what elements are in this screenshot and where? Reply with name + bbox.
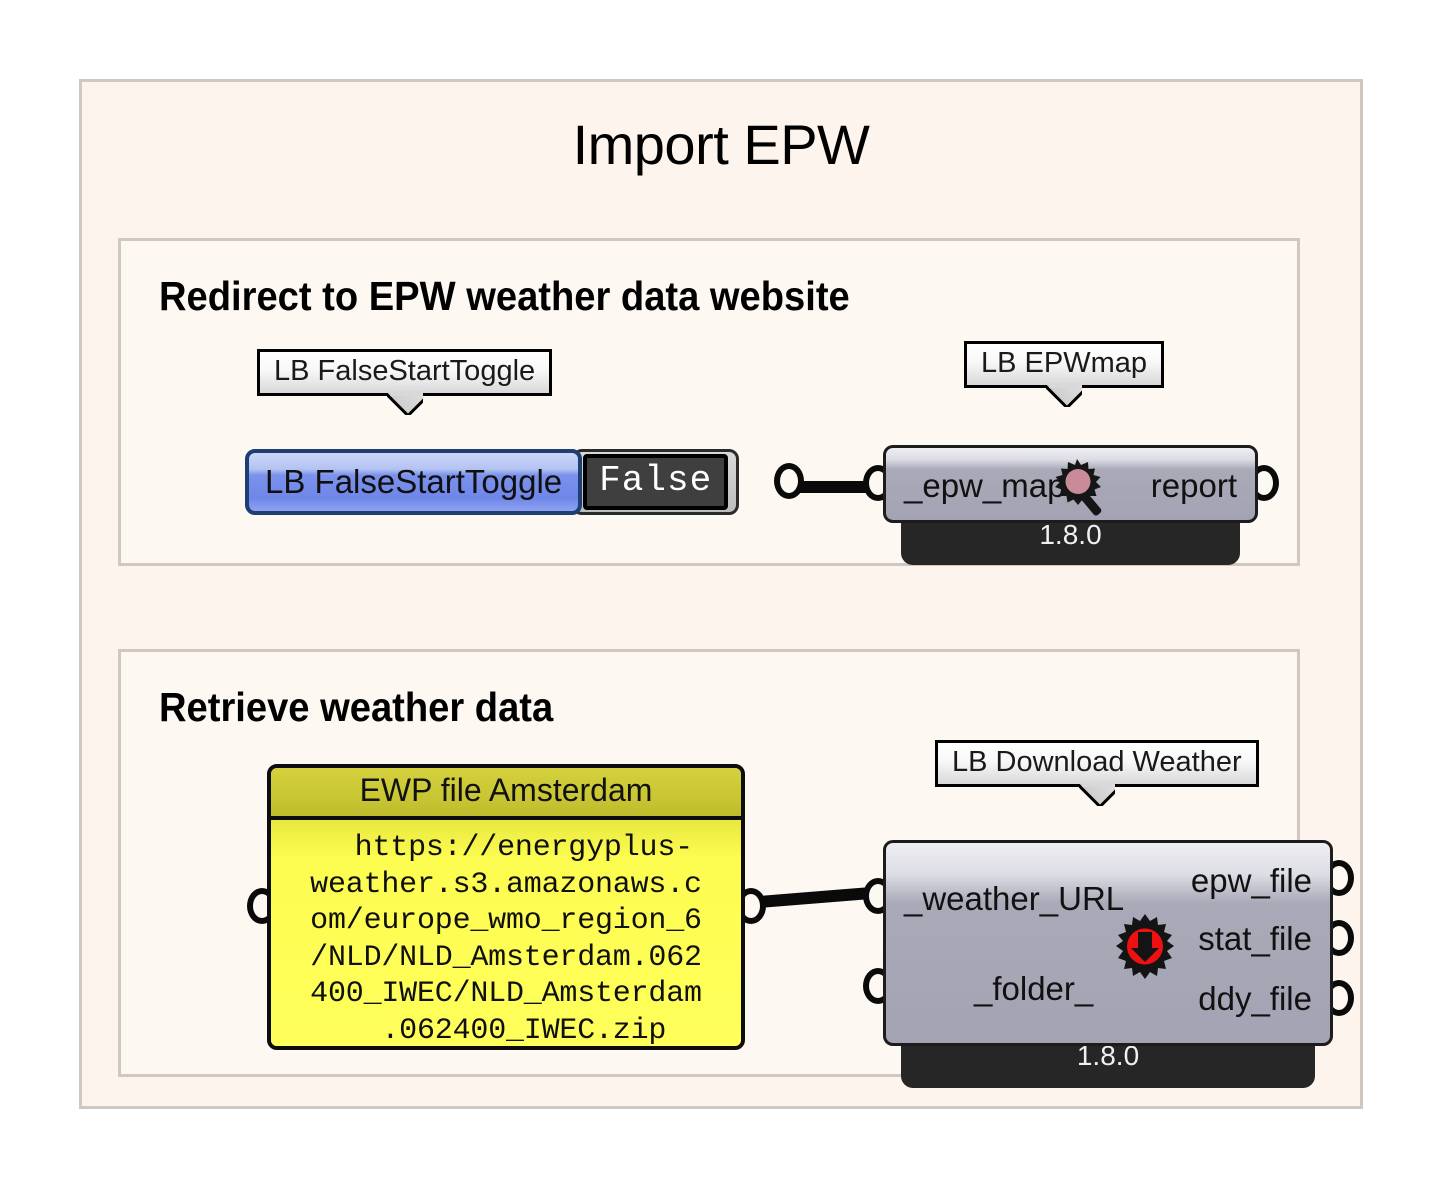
tooltip-false-start-toggle-label: LB FalseStartToggle [274,355,535,387]
boolean-toggle-value[interactable]: False [583,454,728,510]
tooltip-pointer-mask [1049,383,1079,388]
epwmap-input-epw-map[interactable]: _epw_map [904,467,1065,505]
component-epwmap[interactable]: 1.8.0 _epw_map report [883,445,1258,565]
url-panel-header: EWP file Amsterdam [271,768,741,820]
download-weather-body[interactable]: _weather_URL _folder_ epw_file stat_file… [883,840,1333,1046]
url-panel-text[interactable]: https://energyplus- weather.s3.amazonaws… [271,820,741,1050]
page-title: Import EPW [82,112,1360,177]
toggle-output-port[interactable] [774,463,796,499]
panel-retrieve-title: Retrieve weather data [159,684,553,731]
tooltip-epwmap: LB EPWmap [964,341,1164,388]
tooltip-pointer [1046,385,1082,407]
canvas: Import EPW Redirect to EPW weather data … [0,0,1453,1192]
url-panel[interactable]: EWP file Amsterdam https://energyplus- w… [267,764,745,1050]
boolean-toggle[interactable]: LB FalseStartToggle False [245,449,739,515]
tooltip-pointer [1079,784,1115,806]
panel-redirect[interactable]: Redirect to EPW weather data website LB … [118,238,1300,566]
download-weather-input-folder[interactable]: _folder_ [974,970,1093,1008]
tooltip-pointer [387,393,423,415]
boolean-toggle-switch[interactable]: False [572,449,739,515]
epwmap-output-report[interactable]: report [1151,467,1237,505]
tooltip-pointer-mask [390,391,420,396]
tooltip-epwmap-label: LB EPWmap [981,347,1147,379]
boolean-toggle-name[interactable]: LB FalseStartToggle [245,449,582,515]
panel-redirect-title: Redirect to EPW weather data website [159,273,850,320]
panel-retrieve[interactable]: Retrieve weather data EWP file Amsterdam… [118,649,1300,1077]
download-weather-output-ddy-file[interactable]: ddy_file [1198,980,1312,1018]
group-import-epw[interactable]: Import EPW Redirect to EPW weather data … [79,79,1363,1109]
epwmap-body[interactable]: _epw_map report [883,445,1258,523]
tooltip-false-start-toggle: LB FalseStartToggle [257,349,552,396]
tooltip-download-weather: LB Download Weather [935,740,1259,787]
component-download-weather[interactable]: 1.8.0 _weather_URL _folder_ epw_file sta… [883,840,1333,1090]
download-weather-input-weather-url[interactable]: _weather_URL [904,880,1124,918]
tooltip-download-weather-label: LB Download Weather [952,746,1242,778]
boolean-toggle-name-label: LB FalseStartToggle [265,463,562,501]
download-weather-output-epw-file[interactable]: epw_file [1191,862,1312,900]
download-weather-output-stat-file[interactable]: stat_file [1198,920,1312,958]
tooltip-pointer-mask [1082,782,1112,787]
